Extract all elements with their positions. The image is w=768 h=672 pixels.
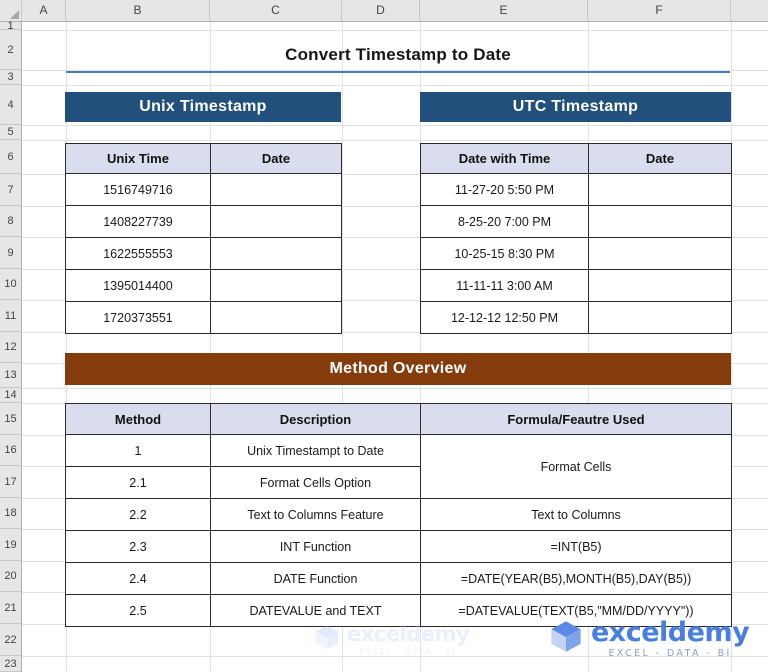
row-header-6[interactable]: 6	[0, 140, 21, 174]
table-row[interactable]: 1516749716	[66, 174, 342, 206]
utc-date-cell[interactable]	[589, 174, 732, 206]
logo-tagline: EXCEL - DATA - BI	[591, 649, 749, 659]
row-header-2[interactable]: 2	[0, 30, 21, 70]
table-row[interactable]: 1 Unix Timestampt to Date Format Cells	[66, 435, 732, 467]
unix-time-cell[interactable]: 1395014400	[66, 270, 211, 302]
table-row[interactable]: 1408227739	[66, 206, 342, 238]
table-row[interactable]: 11-27-20 5:50 PM	[421, 174, 732, 206]
unix-timestamp-table: Unix Time Date 1516749716 1408227739 162…	[65, 143, 342, 334]
method-number-cell[interactable]: 1	[66, 435, 211, 467]
unix-col-header-date: Date	[211, 144, 342, 174]
table-row[interactable]: 1622555553	[66, 238, 342, 270]
watermark: exceldemy EXCEL - DATA - BI	[313, 623, 469, 656]
method-formula-cell-merged[interactable]: Format Cells	[421, 435, 732, 499]
method-description-cell[interactable]: DATE Function	[211, 563, 421, 595]
table-row[interactable]: 1720373551	[66, 302, 342, 334]
column-header-c[interactable]: C	[210, 0, 342, 21]
column-header-f[interactable]: F	[588, 0, 731, 21]
row-header-3[interactable]: 3	[0, 70, 21, 85]
table-header-row: Method Description Formula/Feautre Used	[66, 404, 732, 435]
method-description-cell[interactable]: Unix Timestampt to Date	[211, 435, 421, 467]
title-underline	[66, 71, 730, 73]
column-header-g[interactable]	[731, 0, 768, 21]
utc-datetime-cell[interactable]: 10-25-15 8:30 PM	[421, 238, 589, 270]
section-banner-method: Method Overview	[65, 353, 731, 385]
logo-wordmark: exceldemy	[591, 619, 749, 646]
method-number-cell[interactable]: 2.1	[66, 467, 211, 499]
utc-col-header-datetime: Date with Time	[421, 144, 589, 174]
utc-date-cell[interactable]	[589, 238, 732, 270]
section-banner-unix: Unix Timestamp	[65, 92, 341, 122]
unix-time-cell[interactable]: 1622555553	[66, 238, 211, 270]
exceldemy-logo: exceldemy EXCEL - DATA - BI	[548, 618, 749, 659]
table-row[interactable]: 12-12-12 12:50 PM	[421, 302, 732, 334]
method-number-cell[interactable]: 2.2	[66, 499, 211, 531]
method-number-cell[interactable]: 2.3	[66, 531, 211, 563]
method-formula-cell[interactable]: =DATE(YEAR(B5),MONTH(B5),DAY(B5))	[421, 563, 732, 595]
table-header-row: Date with Time Date	[421, 144, 732, 174]
section-banner-utc: UTC Timestamp	[420, 92, 731, 122]
watermark-text: exceldemy EXCEL - DATA - BI	[347, 624, 469, 656]
method-number-cell[interactable]: 2.4	[66, 563, 211, 595]
row-header-17[interactable]: 17	[0, 466, 21, 498]
row-header-8[interactable]: 8	[0, 206, 21, 237]
table-row[interactable]: 2.2 Text to Columns Feature Text to Colu…	[66, 499, 732, 531]
table-row[interactable]: 2.4 DATE Function =DATE(YEAR(B5),MONTH(B…	[66, 563, 732, 595]
row-header-9[interactable]: 9	[0, 237, 21, 269]
method-overview-table: Method Description Formula/Feautre Used …	[65, 403, 732, 627]
unix-date-cell[interactable]	[211, 206, 342, 238]
row-header-7[interactable]: 7	[0, 174, 21, 206]
table-row[interactable]: 11-11-11 3:00 AM	[421, 270, 732, 302]
method-number-cell[interactable]: 2.5	[66, 595, 211, 627]
row-header-13[interactable]: 13	[0, 363, 21, 388]
method-formula-cell[interactable]: Text to Columns	[421, 499, 732, 531]
column-headers: A B C D E F	[0, 0, 768, 22]
row-headers: 1 2 3 4 5 6 7 8 9 10 11 12 13 14 15 16 1…	[0, 22, 22, 672]
page-title: Convert Timestamp to Date	[66, 40, 730, 70]
unix-date-cell[interactable]	[211, 238, 342, 270]
method-description-cell[interactable]: Text to Columns Feature	[211, 499, 421, 531]
table-row[interactable]: 1395014400	[66, 270, 342, 302]
utc-date-cell[interactable]	[589, 270, 732, 302]
method-description-cell[interactable]: Format Cells Option	[211, 467, 421, 499]
spreadsheet-canvas: A B C D E F 1 2 3 4 5 6 7 8 9 10 11 12 1…	[0, 0, 768, 672]
utc-timestamp-table: Date with Time Date 11-27-20 5:50 PM 8-2…	[420, 143, 732, 334]
exceldemy-cube-icon	[548, 618, 584, 659]
row-header-14[interactable]: 14	[0, 388, 21, 403]
exceldemy-cube-icon	[313, 623, 341, 656]
method-col-header-formula: Formula/Feautre Used	[421, 404, 732, 435]
utc-datetime-cell[interactable]: 8-25-20 7:00 PM	[421, 206, 589, 238]
utc-datetime-cell[interactable]: 12-12-12 12:50 PM	[421, 302, 589, 334]
unix-date-cell[interactable]	[211, 174, 342, 206]
unix-col-header-time: Unix Time	[66, 144, 211, 174]
unix-time-cell[interactable]: 1516749716	[66, 174, 211, 206]
table-row[interactable]: 2.3 INT Function =INT(B5)	[66, 531, 732, 563]
select-all-triangle-icon	[10, 10, 19, 19]
row-header-4[interactable]: 4	[0, 85, 21, 125]
utc-date-cell[interactable]	[589, 302, 732, 334]
select-all-button[interactable]	[0, 0, 22, 21]
row-header-10[interactable]: 10	[0, 269, 21, 300]
row-header-12[interactable]: 12	[0, 332, 21, 363]
row-header-11[interactable]: 11	[0, 300, 21, 332]
table-row[interactable]: 8-25-20 7:00 PM	[421, 206, 732, 238]
column-header-a[interactable]: A	[22, 0, 66, 21]
utc-datetime-cell[interactable]: 11-11-11 3:00 AM	[421, 270, 589, 302]
row-header-5[interactable]: 5	[0, 125, 21, 140]
logo-text: exceldemy EXCEL - DATA - BI	[591, 619, 749, 659]
utc-date-cell[interactable]	[589, 206, 732, 238]
row-header-21[interactable]: 21	[0, 592, 21, 624]
unix-date-cell[interactable]	[211, 302, 342, 334]
unix-time-cell[interactable]: 1408227739	[66, 206, 211, 238]
watermark-wordmark: exceldemy	[347, 624, 469, 645]
unix-time-cell[interactable]: 1720373551	[66, 302, 211, 334]
row-header-18[interactable]: 18	[0, 498, 21, 529]
row-header-1[interactable]: 1	[0, 22, 21, 30]
row-header-22[interactable]: 22	[0, 624, 21, 656]
row-header-16[interactable]: 16	[0, 435, 21, 466]
row-header-15[interactable]: 15	[0, 403, 21, 435]
unix-date-cell[interactable]	[211, 270, 342, 302]
method-col-header-description: Description	[211, 404, 421, 435]
table-row[interactable]: 10-25-15 8:30 PM	[421, 238, 732, 270]
method-description-cell[interactable]: INT Function	[211, 531, 421, 563]
row-header-20[interactable]: 20	[0, 561, 21, 592]
method-col-header-method: Method	[66, 404, 211, 435]
utc-col-header-date: Date	[589, 144, 732, 174]
column-header-b[interactable]: B	[66, 0, 210, 21]
method-formula-cell[interactable]: =INT(B5)	[421, 531, 732, 563]
column-header-d[interactable]: D	[342, 0, 420, 21]
table-header-row: Unix Time Date	[66, 144, 342, 174]
utc-datetime-cell[interactable]: 11-27-20 5:50 PM	[421, 174, 589, 206]
row-header-23[interactable]: 23	[0, 656, 21, 672]
row-header-19[interactable]: 19	[0, 529, 21, 561]
watermark-tagline: EXCEL - DATA - BI	[347, 648, 469, 656]
column-header-e[interactable]: E	[420, 0, 588, 21]
